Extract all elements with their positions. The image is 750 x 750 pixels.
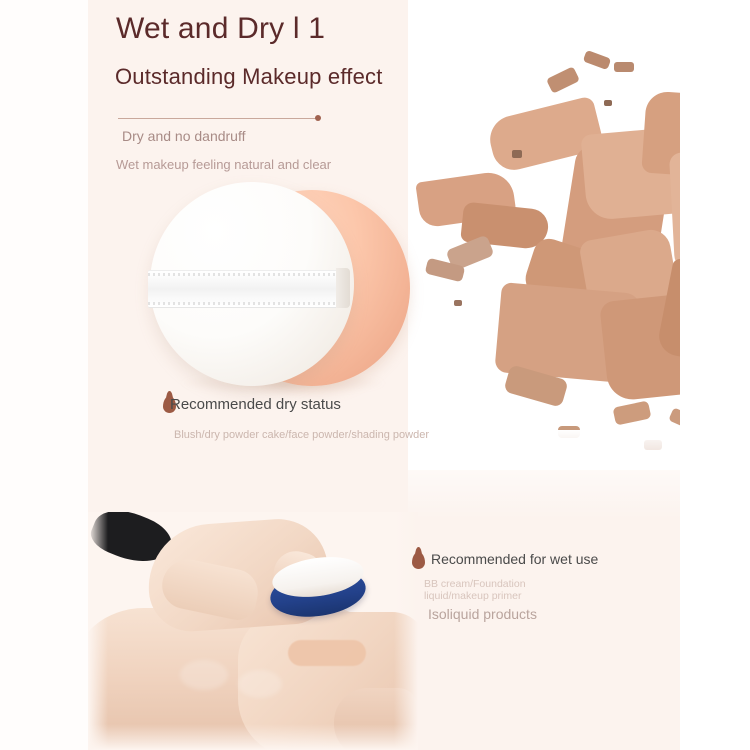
foundation-swatch bbox=[288, 640, 366, 666]
hand-demo-photo bbox=[88, 512, 418, 750]
puff-elastic-band bbox=[148, 270, 344, 308]
water-drop-icon-wet bbox=[412, 552, 425, 569]
left-white-margin bbox=[0, 0, 88, 750]
wet-use-label: Recommended for wet use bbox=[431, 551, 598, 567]
puff-white-front bbox=[150, 182, 354, 386]
lead-text-wet: Wet makeup feeling natural and clear bbox=[116, 157, 331, 172]
page-title: Wet and Dry l 1 bbox=[116, 12, 325, 46]
photo-fade-bottom bbox=[88, 724, 418, 750]
dry-status-sublabel: Blush/dry powder cake/face powder/shadin… bbox=[174, 429, 429, 441]
lead-text-dry: Dry and no dandruff bbox=[122, 128, 246, 144]
photo-fade-left bbox=[88, 512, 108, 750]
hand-demo-stage bbox=[88, 512, 418, 750]
knuckle-highlight bbox=[180, 660, 228, 690]
divider-dot-icon bbox=[315, 115, 321, 121]
wet-use-sublabel: BB cream/Foundation liquid/makeup primer bbox=[424, 578, 584, 602]
puff-band-end bbox=[336, 268, 350, 308]
dry-status-label: Recommended dry status bbox=[170, 396, 341, 413]
right-white-column bbox=[680, 0, 750, 750]
powder-puff-product-image bbox=[150, 182, 402, 398]
page-subtitle: Outstanding Makeup effect bbox=[115, 64, 383, 90]
photo-fade-right bbox=[394, 512, 418, 750]
knuckle-highlight bbox=[238, 670, 282, 698]
product-marketing-image: Wet and Dry l 1 Outstanding Makeup effec… bbox=[0, 0, 750, 750]
divider-line-icon bbox=[118, 118, 318, 119]
wet-use-extra-label: Isoliquid products bbox=[428, 606, 537, 622]
